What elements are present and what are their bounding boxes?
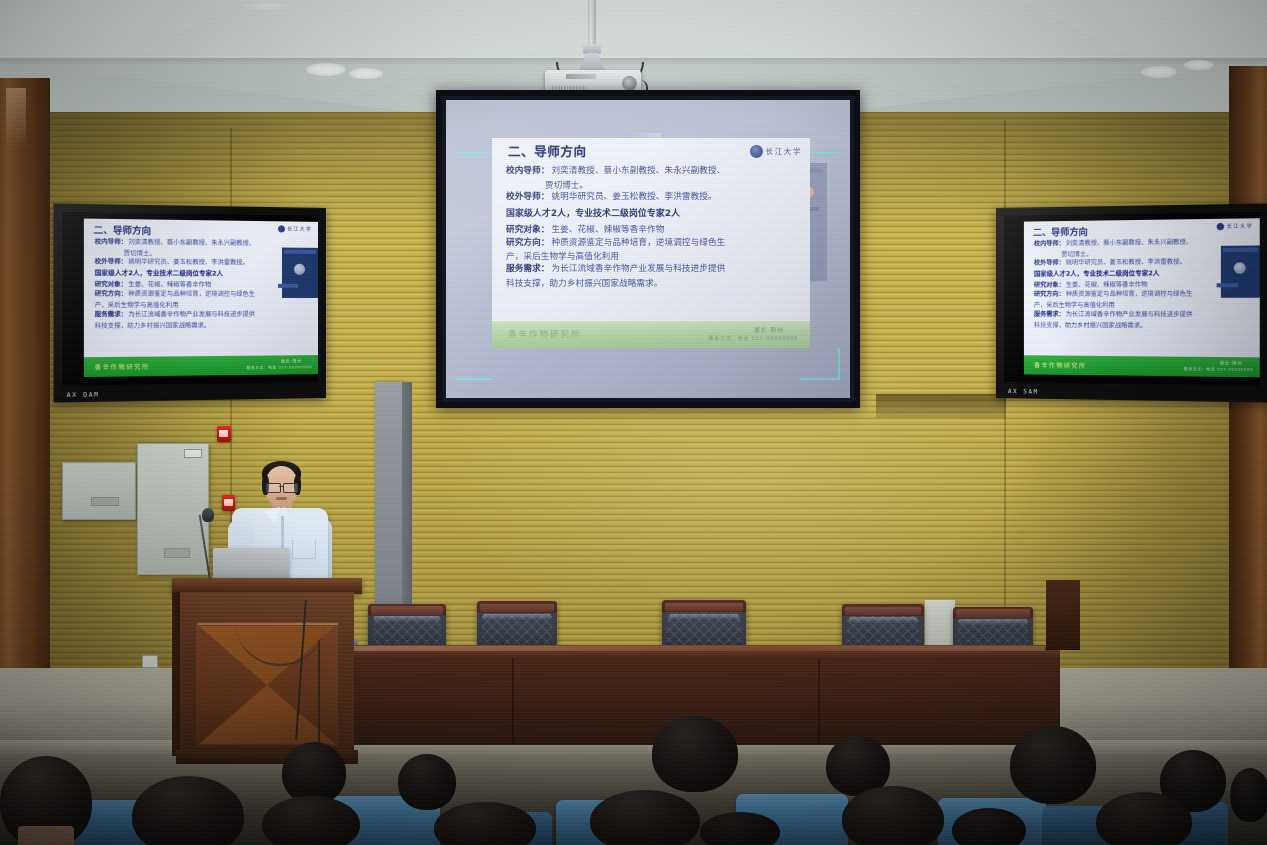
slide-emphasis-line: 国家级人才2人，专业技术二级岗位专家2人 [95,267,308,277]
slide-row: 研究方向： 种质资源鉴定与品种培育，逆境调控与绿色生 [1034,290,1249,298]
slide-row-value: 生姜、花椒、辣椒等香辛作物 [128,281,211,289]
screen-corner-marker-icon [800,378,840,380]
slide-row-value: 生姜、花椒、辣椒等香辛作物 [551,225,664,236]
slide-row-continuation: 产，采后生物学与高值化利用 [506,250,798,262]
slide-body: 校内导师： 刘奕清教授、蔡小东副教授、朱永兴副教授、 贾切博士。 校外导师： 姚… [506,166,798,289]
wall-socket [142,655,158,668]
monitor-slide-title: 二、导师方向 [94,223,152,237]
slide-footer-contact: 联系方式：电话 027-00000000 [1184,367,1253,373]
monitor-participant-label [1217,283,1238,287]
electrical-panel-large [137,443,209,575]
wall-pillar-strip-edge [402,382,412,612]
slide-row-value: 姚明华研究员、姜玉松教授、李洪雷教授。 [1066,258,1186,267]
slide-row: 服务需求： 为长江流域香辛作物产业发展与科技进步提供 [95,311,308,320]
audience-head [590,790,700,845]
slide-row-label: 校外导师： [1034,259,1065,267]
slide-row: 服务需求： 为长江流域香辛作物产业发展与科技进步提供 [1034,311,1249,320]
ceiling-downlight [1184,60,1214,70]
monitor-bezel-inner: 二、导师方向 长江大学 校内导师： 刘奕清教授、蔡小东副教授、朱永兴副教授、 贾… [62,212,318,386]
slide-row-indented: 贾切博士。 [506,179,798,191]
slide-row-label: 服务需求： [95,311,128,319]
wood-column-left-edge [36,78,50,678]
wood-column-left [0,78,40,678]
slide-row-label: 研究方向： [506,238,549,249]
presenter-mouth [276,497,287,500]
microphone-icon [202,508,214,522]
slide-row-value: 姚明华研究员、姜玉松教授、李洪雷教授。 [551,192,716,203]
table-highlight [345,646,1045,651]
slide-row-continuation: 科技支撑，助力乡村振兴国家战略需求。 [506,277,798,289]
chair-top-rail [956,609,1030,617]
wall-shadow-band [876,394,1006,418]
slide-row-value: 为长江流域香辛作物产业发展与科技进步提供 [551,264,725,275]
eyeglasses-icon [266,483,281,493]
slide-row-label: 校内导师： [1034,240,1065,248]
audience-head [700,812,780,845]
slide-footer-logo: 香辛作物研究所 [508,328,582,340]
slide-footer-location: 湖北·荆州 [1220,360,1243,366]
fire-alarm-icon [217,426,231,442]
audience-head [1096,792,1192,845]
audience-head [952,808,1026,845]
wood-column-highlight [6,88,26,148]
slide-row: 校外导师： 姚明华研究员、姜玉松教授、李洪雷教授。 [506,192,798,203]
monitor-slide-footer: 香辛作物研究所 湖北·荆州 联系方式：电话 027-00000000 [1024,355,1260,377]
slide-row-indented: 贾切博士。 [1034,248,1249,259]
university-emblem-icon [278,225,285,232]
chair-top-rail [845,607,920,616]
ceiling-soffit [0,0,1267,62]
slide-row: 校外导师： 姚明华研究员、姜玉松教授、李洪雷教授。 [1034,258,1249,268]
screen-corner-marker-icon [455,378,491,380]
slide-row-label: 服务需求： [1034,311,1065,319]
presentation-slide: 长江大学 校内导师： 刘奕清教授、蔡小东副教授、朱永兴副教授、 贾切博士。 校外… [492,138,810,348]
slide-row: 校外导师： 姚明华研究员、姜玉松教授、李洪雷教授。 [95,258,308,268]
chair-highlight [959,619,1026,625]
slide-row: 研究对象： 生姜、花椒、辣椒等香辛作物 [95,281,308,290]
university-logo-text: 长江大学 [1226,223,1253,231]
chair-top-rail [665,603,742,612]
slide-footer-contact: 联系方式：电话 027-00000000 [709,335,798,342]
monitor-bezel-inner: 二、导师方向 长江大学 校内导师： 刘奕清教授、蔡小东副教授、朱永兴副教授、 贾… [1004,212,1260,386]
slide-row: 研究对象： 生姜、花椒、辣椒等香辛作物 [506,225,798,236]
chair-highlight [483,614,550,620]
slide-footer-location: 湖北·荆州 [281,358,302,364]
slide-row-label: 研究对象： [95,281,128,289]
monitor-university-logo: 长江大学 [1217,223,1253,231]
slide-row-label: 校内导师： [506,166,549,177]
alarm-face [219,430,228,437]
university-logo-text: 长江大学 [766,146,802,157]
slide-row: 服务需求： 为长江流域香辛作物产业发展与科技进步提供 [506,264,798,275]
slide-row-continuation: 产，采后生物学与高值化利用 [1034,300,1249,309]
chair-top-rail [480,604,554,613]
ceiling-downlight [1141,66,1177,78]
panel-tag [184,449,202,458]
slide-row-value: 生姜、花椒、辣椒等香辛作物 [1066,281,1148,289]
ceiling-downlight [243,2,289,10]
audience-head [652,716,738,792]
audience-head [1230,768,1267,822]
monitor-video-title [284,250,316,254]
shirt-pocket [292,540,316,559]
side-monitor-right: 二、导师方向 长江大学 校内导师： 刘奕清教授、蔡小东副教授、朱永兴副教授、 贾… [996,203,1267,402]
slide-row-label: 服务需求： [506,264,549,275]
slide-row-label: 研究对象： [1034,282,1065,290]
university-emblem-icon [1217,223,1225,230]
slide-row-label: 研究对象： [506,225,549,236]
monitor-slide-body: 校内导师： 刘奕清教授、蔡小东副教授、朱永兴副教授、 贾切博士。 校外导师： 姚… [95,238,308,329]
monitor-slide-footer: 香辛作物研究所 湖北·荆州 联系方式：电话 027-00000000 [84,355,318,377]
slide-row-label: 研究方向： [1034,291,1065,299]
slide-row-value: 种质资源鉴定与品种培育，逆境调控与绿色生 [1066,290,1193,298]
slide-row-label: 校外导师： [95,258,128,266]
audience-head [434,802,536,845]
slide-row-value: 刘奕清教授、蔡小东副教授、朱永兴副教授、 [551,166,725,177]
projector-label [566,74,596,79]
slide-row: 研究方向： 种质资源鉴定与品种培育，逆境调控与绿色生 [95,290,308,298]
university-logo-text: 长江大学 [287,225,312,232]
slide-row-value: 刘奕清教授、蔡小东副教授、朱永兴副教授、 [1066,239,1193,248]
alarm-face [224,499,233,506]
screen-corner-marker-icon [805,152,841,154]
chair-highlight [374,616,440,622]
slide-row-indented: 贾切博士。 [95,248,308,259]
slide-emphasis-line: 国家级人才2人，专业技术二级岗位专家2人 [506,206,798,219]
monitor-video-title [1223,248,1258,252]
university-logo: 长江大学 [750,145,802,158]
right-side-furniture [1046,580,1080,650]
audience-head [262,796,360,845]
fire-alarm-icon [222,495,235,511]
university-emblem-icon [750,145,763,158]
ceiling-downlight [306,63,346,76]
slide-emphasis-line: 国家级人才2人，专业技术二级岗位专家2人 [1034,267,1249,277]
eyeglasses-bridge [279,486,283,487]
slide-row-value: 为长江流域香辛作物产业发展与科技进步提供 [128,311,255,319]
slide-row-value: 为长江流域香辛作物产业发展与科技进步提供 [1066,311,1193,319]
slide-row-value: 种质资源鉴定与品种培育，逆境调控与绿色生 [551,238,725,249]
audience-head [398,754,456,810]
slide-row-continuation: 产，采后生物学与高值化利用 [95,300,308,309]
monitor-screen: 二、导师方向 长江大学 校内导师： 刘奕清教授、蔡小东副教授、朱永兴副教授、 贾… [84,219,318,377]
eyeglasses-icon [283,483,298,493]
slide-row-continuation: 科技支撑，助力乡村振兴国家战略需求。 [1034,320,1249,330]
slide-row-value: 种质资源鉴定与品种培育，逆境调控与绿色生 [128,290,255,298]
monitor-participant-avatar [294,264,305,275]
electrical-panel-small [62,462,136,520]
slide-row: 校内导师： 刘奕清教授、蔡小东副教授、朱永兴副教授、 [506,166,798,177]
monitor-slide-title: 二、导师方向 [1033,225,1088,239]
chair-top-rail [371,606,443,614]
slide-footer-logo: 香辛作物研究所 [95,362,150,372]
projector-mount-pole [588,0,596,47]
audience-head [1010,726,1096,804]
wall-pillar-strip [375,382,405,612]
slide-footer-location: 湖北·荆州 [754,326,784,334]
monitor-university-logo: 长江大学 [278,225,312,232]
slide-row-label: 研究方向： [95,290,128,298]
monitor-brand-label: AX SAM [1008,388,1039,396]
audience-neck [18,826,74,845]
slide-title: 二、导师方向 [508,141,587,160]
slide-row-value: 姚明华研究员、姜玉松教授、李洪雷教授。 [128,258,249,267]
slide-row-continuation: 科技支撑，助力乡村振兴国家战略需求。 [95,320,308,330]
audience-head [282,742,346,804]
screen-corner-marker-icon [455,152,491,154]
slide-footer: 香辛作物研究所 湖北·荆州 联系方式：电话 027-00000000 [492,321,810,348]
slide-footer-logo: 香辛作物研究所 [1034,360,1087,370]
slide-row-label: 校外导师： [506,192,549,203]
monitor-participant-avatar [1234,262,1246,274]
panel-nameplate [91,497,119,506]
chair-highlight [849,617,918,623]
chair-highlight [669,614,740,620]
projector-pole-cap [583,44,601,54]
monitor-participant-label [278,284,298,288]
slide-footer-contact: 联系方式：电话 027-00000000 [247,365,312,371]
lecture-hall-photo: 长江大学 校内导师： 刘奕清教授、蔡小东副教授、朱永兴副教授、 贾切博士。 校外… [0,0,1267,845]
slide-row-value: 刘奕清教授、蔡小东副教授、朱永兴副教授、 [128,239,255,248]
monitor-brand-label: AX DAM [67,391,100,399]
conference-chair [477,601,557,651]
projector-lens-icon [622,76,637,91]
screen-corner-marker-icon [838,348,840,380]
slide-row: 研究方向： 种质资源鉴定与品种培育，逆境调控与绿色生 [506,238,798,249]
ceiling-downlight [349,68,383,79]
monitor-screen: 二、导师方向 长江大学 校内导师： 刘奕清教授、蔡小东副教授、朱永兴副教授、 贾… [1024,218,1260,377]
panel-nameplate [164,548,190,558]
slide-row-label: 校内导师： [95,238,128,247]
audience-head [842,786,944,845]
side-monitor-left: 二、导师方向 长江大学 校内导师： 刘奕清教授、蔡小东副教授、朱永兴副教授、 贾… [54,203,326,402]
